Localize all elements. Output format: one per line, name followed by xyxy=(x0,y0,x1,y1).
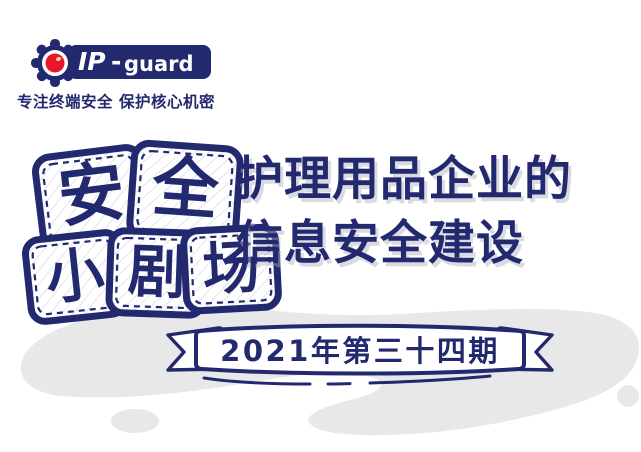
poster-root: IP - guard 专注终端安全 保护核心机密 安 xyxy=(0,0,641,452)
series-block-1-char: 安 xyxy=(54,152,129,236)
issue-ribbon: 2021年第三十四期 xyxy=(160,318,560,388)
headline-line-2: 信息安全建设 xyxy=(236,216,572,271)
series-block-3-char: 小 xyxy=(43,239,108,313)
series-block-4-char: 剧 xyxy=(127,237,187,307)
series-block-2-char: 全 xyxy=(149,148,222,230)
issue-label: 2021年第三十四期 xyxy=(160,318,560,380)
headline: 护理用品企业的 信息安全建设 xyxy=(236,152,572,271)
headline-line-1: 护理用品企业的 xyxy=(236,152,572,207)
